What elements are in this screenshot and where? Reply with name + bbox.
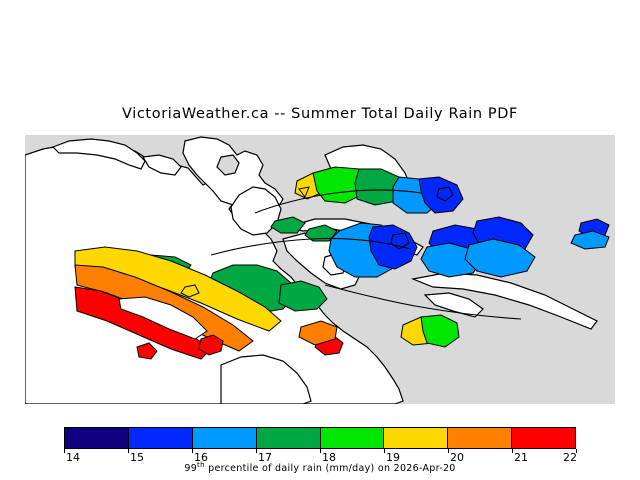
region-lopez-green-arm bbox=[279, 281, 327, 311]
caption-rest: percentile of daily rain (mm/day) on 202… bbox=[205, 463, 456, 474]
colorbar-gradient[interactable] bbox=[64, 427, 576, 449]
colorbar-tick-mark-14 bbox=[64, 449, 65, 453]
colorbar-segment-17-18[interactable] bbox=[257, 428, 321, 448]
colorbar-segment-21-22[interactable] bbox=[512, 428, 575, 448]
colorbar-caption: 99th percentile of daily rain (mm/day) o… bbox=[0, 461, 640, 474]
colorbar-tick-mark-17 bbox=[256, 449, 257, 453]
map-canvas[interactable] bbox=[25, 135, 615, 404]
colorbar-tick-mark-15 bbox=[128, 449, 129, 453]
colorbar-tick-mark-18 bbox=[320, 449, 321, 453]
colorbar-segment-15-16[interactable] bbox=[129, 428, 193, 448]
colorbar-segment-19-20[interactable] bbox=[384, 428, 448, 448]
colorbar-segment-14-15[interactable] bbox=[65, 428, 129, 448]
land-right-inlet bbox=[425, 293, 483, 317]
colorbar-tick-mark-20 bbox=[448, 449, 449, 453]
colorbar-tick-mark-21 bbox=[512, 449, 513, 453]
map-svg[interactable] bbox=[25, 135, 615, 404]
weather-map-page: VictoriaWeather.ca -- Summer Total Daily… bbox=[0, 0, 640, 480]
page-title: VictoriaWeather.ca -- Summer Total Daily… bbox=[0, 106, 640, 122]
colorbar-tick-mark-19 bbox=[384, 449, 385, 453]
colorbar-segment-18-19[interactable] bbox=[321, 428, 385, 448]
colorbar[interactable] bbox=[64, 427, 576, 449]
colorbar-segment-16-17[interactable] bbox=[193, 428, 257, 448]
colorbar-segment-20-21[interactable] bbox=[448, 428, 512, 448]
caption-superscript: th bbox=[197, 461, 205, 469]
caption-prefix: 99 bbox=[184, 463, 197, 474]
colorbar-tick-mark-16 bbox=[192, 449, 193, 453]
island-sanjuan-green bbox=[421, 315, 459, 347]
